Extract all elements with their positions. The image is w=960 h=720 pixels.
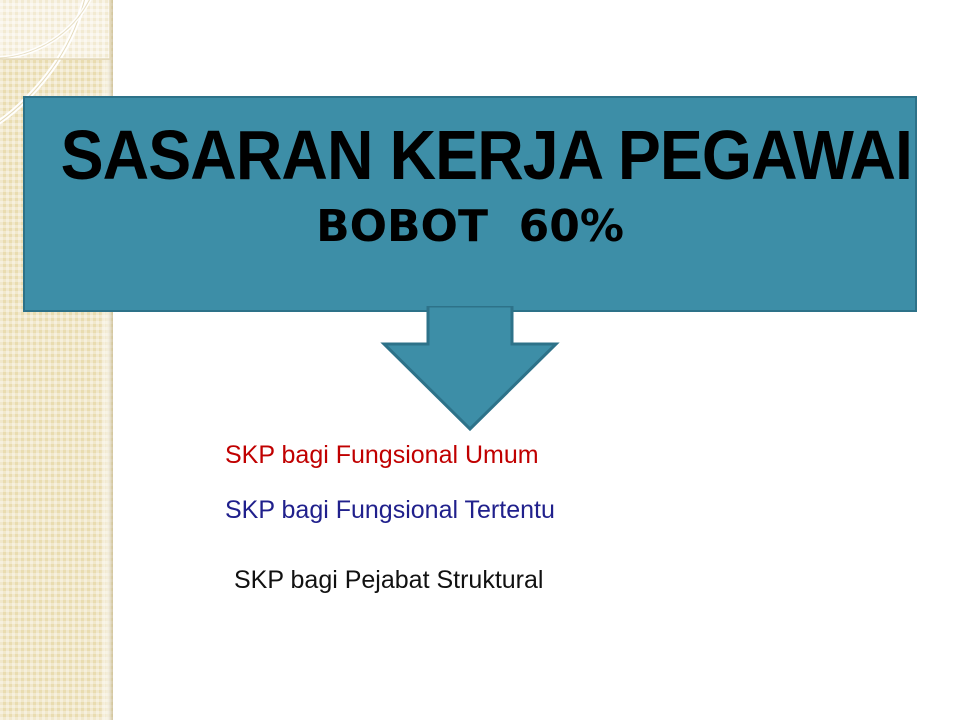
list-item-pejabat-struktural: SKP bagi Pejabat Struktural (234, 566, 543, 595)
page-title: SASARAN KERJA PEGAWAI (61, 118, 880, 192)
page-subtitle: BOBOT 60% (25, 202, 915, 252)
title-banner: SASARAN KERJA PEGAWAI BOBOT 60% (23, 96, 917, 312)
list-item-fungsional-umum: SKP bagi Fungsional Umum (225, 441, 539, 470)
list-item-fungsional-tertentu: SKP bagi Fungsional Tertentu (225, 496, 555, 525)
slide-canvas: SASARAN KERJA PEGAWAI BOBOT 60% SKP bagi… (0, 0, 960, 720)
down-arrow-icon (380, 306, 560, 432)
side-top-panel (0, 0, 111, 60)
